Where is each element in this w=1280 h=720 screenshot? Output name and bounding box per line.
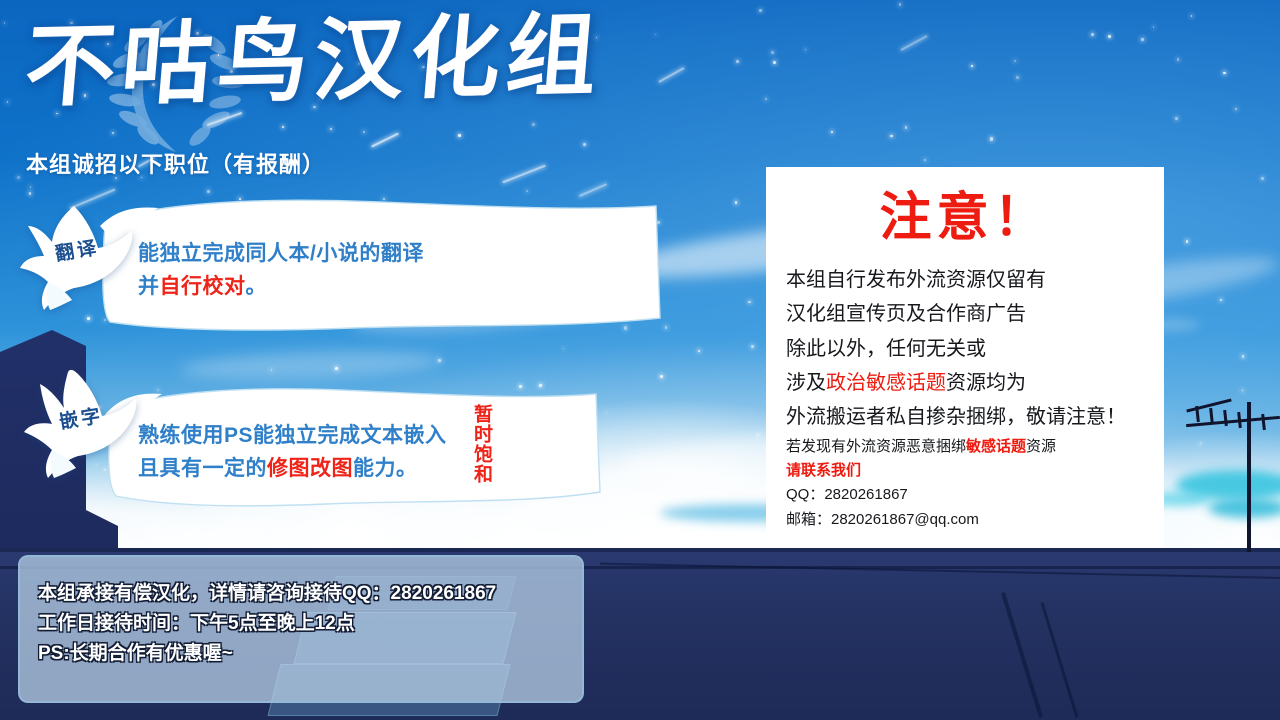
notice-text-segment: 邮箱：2820261867@qq.com [786,511,979,528]
notice-text-segment: 资源 [1026,438,1056,455]
notice-text-segment: 涉及 [786,372,826,394]
promo-page: 不咕鸟汉化组 本组诚招以下职位（有报酬） 能独立完成同人本/小说的翻译 并自行校… [0,0,1280,720]
notice-text-segment: 敏感话题 [966,438,1026,455]
notice-text-segment: 除此以外，任何无关或 [786,338,986,360]
notice-text-segment: 资源均为 [946,372,1026,394]
position-description: 熟练使用PS能独立完成文本嵌入 且具有一定的修图改图能力。 [138,420,447,485]
dove-badge-typeset: 嵌字 [22,368,140,480]
rooftop-edge [0,548,1280,552]
position-banner-translate: 能独立完成同人本/小说的翻译 并自行校对。 [100,196,666,338]
dove-badge-translate: 翻译 [18,200,136,312]
notice-text-segment: 外流搬运者私自掺杂捆绑，敬请注意！ [786,406,1126,428]
description-line-2: 且具有一定的修图改图能力。 [138,453,447,486]
notice-line: 邮箱：2820261867@qq.com [786,508,1144,532]
description-line-1: 能独立完成同人本/小说的翻译 [138,238,424,271]
notice-line: 外流搬运者私自掺杂捆绑，敬请注意！ [786,400,1144,434]
notice-line: 除此以外，任何无关或 [786,332,1144,366]
notice-text-segment: 请联系我们 [786,462,861,479]
notice-line: 若发现有外流资源恶意捆绑敏感话题资源 [786,435,1144,459]
description-line-1: 熟练使用PS能独立完成文本嵌入 [138,420,447,453]
contact-info-box: 本组承接有偿汉化，详情请咨询接待QQ：2820261867 工作日接待时间：下午… [18,555,584,703]
description-line-2: 并自行校对。 [138,271,424,304]
position-description: 能独立完成同人本/小说的翻译 并自行校对。 [138,238,424,303]
notice-text-segment: 若发现有外流资源恶意捆绑 [786,438,966,455]
notice-text-segment: QQ：2820261867 [786,486,908,503]
watercolor-streak [1208,498,1280,518]
notice-line: 汉化组宣传页及合作商广告 [786,297,1144,331]
position-banner-typeset: 熟练使用PS能独立完成文本嵌入 且具有一定的修图改图能力。 [104,382,604,512]
page-title: 不咕鸟汉化组 [21,10,606,117]
notice-heading: 注意！ [786,189,1144,249]
status-badge-saturated: 暂时饱和 [470,404,492,484]
notice-line: 本组自行发布外流资源仅留有 [786,263,1144,297]
notice-text-segment: 政治敏感话题 [826,372,946,394]
notice-body: 本组自行发布外流资源仅留有汉化组宣传页及合作商广告除此以外，任何无关或涉及政治敏… [786,263,1144,532]
notice-panel: 注意！ 本组自行发布外流资源仅留有汉化组宣传页及合作商广告除此以外，任何无关或涉… [766,167,1164,548]
info-line-1: 本组承接有偿汉化，详情请咨询接待QQ：2820261867 [38,579,582,609]
notice-text-segment: 本组自行发布外流资源仅留有 [786,269,1046,291]
notice-line: QQ：2820261867 [786,483,1144,507]
notice-line: 涉及政治敏感话题资源均为 [786,366,1144,400]
antenna-pole-icon [1247,402,1251,552]
page-subtitle: 本组诚招以下职位（有报酬） [26,147,325,179]
info-line-3: PS:长期合作有优惠喔~ [38,639,582,669]
info-line-2: 工作日接待时间：下午5点至晚上12点 [38,609,582,639]
notice-text-segment: 汉化组宣传页及合作商广告 [786,303,1026,325]
notice-line: 请联系我们 [786,459,1144,483]
